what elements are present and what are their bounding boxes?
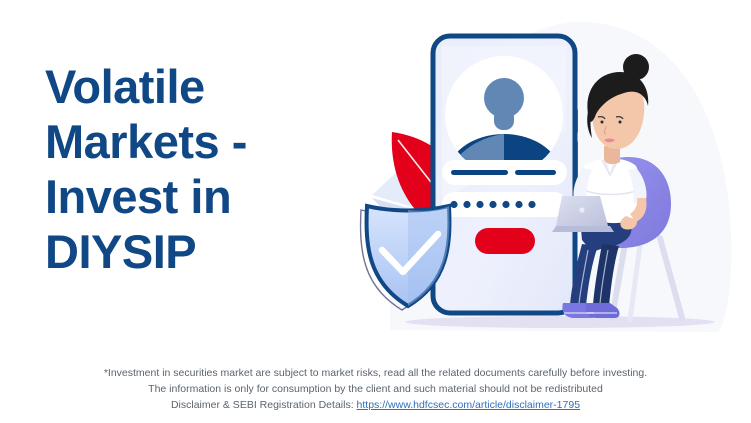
ground-shadow xyxy=(405,316,715,328)
disclaimer-line-2: The information is only for consumption … xyxy=(0,382,751,398)
disclaimer-text: *Investment in securities market are sub… xyxy=(0,366,751,414)
shoes xyxy=(562,303,619,318)
disclaimer-line-3-prefix: Disclaimer & SEBI Registration Details: xyxy=(171,399,357,411)
password-field[interactable] xyxy=(442,192,567,217)
disclaimer-line-1: *Investment in securities market are sub… xyxy=(0,366,751,382)
login-button[interactable] xyxy=(475,228,535,254)
promo-banner: Volatile Markets - Invest in DIYSIP xyxy=(0,0,751,423)
hair-bun xyxy=(623,54,649,80)
page-title: Volatile Markets - Invest in DIYSIP xyxy=(45,60,345,280)
disclaimer-line-3: Disclaimer & SEBI Registration Details: … xyxy=(0,398,751,414)
disclaimer-link[interactable]: https://www.hdfcsec.com/article/disclaim… xyxy=(357,399,581,411)
smartphone[interactable] xyxy=(433,36,578,313)
username-field[interactable] xyxy=(442,160,567,185)
hero-illustration xyxy=(330,0,751,355)
